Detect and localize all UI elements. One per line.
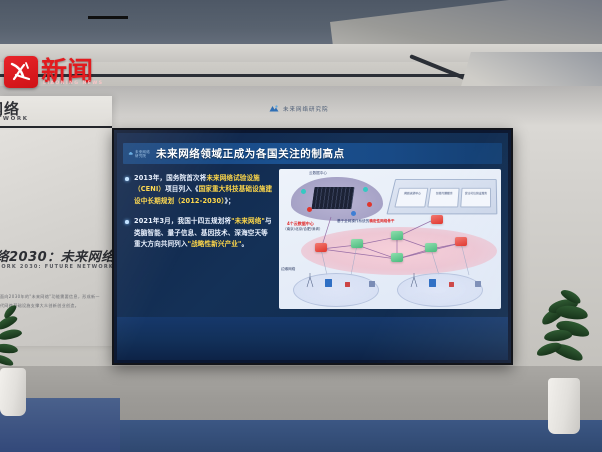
- slide-bullet-2: 2021年3月，我国十四五规划将"未来网络"与类脑智能、量子信息、基因技术、深海…: [125, 216, 273, 250]
- exhibit-main-title-cn: 网络2030：未来网络: [0, 246, 112, 265]
- plant-pot-left: [0, 368, 26, 416]
- bullet-highlight-text: "战略性新兴产业": [188, 240, 242, 248]
- exhibit-main-title-en: NETWORK 2030: FUTURE NETWORK: [0, 264, 112, 270]
- bullet-text: 》；: [225, 197, 235, 205]
- exhibit-top-title-en: NETWORK: [0, 116, 29, 122]
- slide-logo-text: 未来网络研究院: [135, 150, 150, 158]
- edge-antennas: [279, 169, 501, 309]
- slide-bullet-1: 2013年，国务院首次将未来网络试验设施（CENI）项目列入《国家重大科技基础设…: [125, 173, 273, 207]
- broadcaster-logo-badge: [4, 56, 38, 88]
- slide-lower-area: [117, 317, 508, 360]
- network-architecture-diagram: 云数据中心 4个云数据中心 （南京/北京/合肥/深圳） 动态工具与资源服务 网络…: [279, 169, 501, 309]
- bullet-text: 2013年，国务院首次将: [134, 174, 206, 182]
- mountain-cloud-icon: [268, 103, 280, 115]
- broadcaster-logo: 新闻 LIAONING NEWS: [4, 56, 93, 88]
- bullet-text: 2021年3月，我国十四五规划将: [134, 217, 231, 225]
- broadcaster-logo-text: 新闻 LIAONING NEWS: [41, 59, 93, 85]
- slide-header-bar: 未来网络研究院 未来网络领域正成为各国关注的制高点: [123, 143, 502, 164]
- bullet-highlight-text: "未来网络": [231, 217, 265, 225]
- cloud-icon: [128, 149, 133, 158]
- broadcaster-name-en: LIAONING NEWS: [43, 81, 103, 86]
- wall-institute-logo: 未来网络研究院: [268, 103, 329, 115]
- slide-canvas: 未来网络研究院 未来网络领域正成为各国关注的制高点 2013年，国务院首次将未来…: [117, 133, 508, 317]
- wall-exhibit-panel: 网络 NETWORK 网络2030：未来网络 NETWORK 2030: FUT…: [0, 96, 112, 346]
- slide-title: 未来网络领域正成为各国关注的制高点: [156, 146, 345, 161]
- presentation-display: 未来网络研究院 未来网络领域正成为各国关注的制高点 2013年，国务院首次将未来…: [112, 128, 513, 365]
- broadcaster-logo-bar: [88, 16, 128, 19]
- bullet-text: 项目列入《: [165, 185, 198, 193]
- bullet-text: 。: [242, 240, 249, 248]
- slide-logo: 未来网络研究院: [128, 148, 150, 160]
- wall-logo-text: 未来网络研究院: [283, 105, 329, 113]
- plant-pot-right: [548, 378, 580, 434]
- exhibit-divider: [0, 126, 112, 128]
- calligraphy-mark-icon: [7, 58, 35, 86]
- screenshot-root: 网络 NETWORK 网络2030：未来网络 NETWORK 2030: FUT…: [0, 0, 602, 452]
- slide-bullet-list: 2013年，国务院首次将未来网络试验设施（CENI）项目列入《国家重大科技基础设…: [125, 173, 273, 259]
